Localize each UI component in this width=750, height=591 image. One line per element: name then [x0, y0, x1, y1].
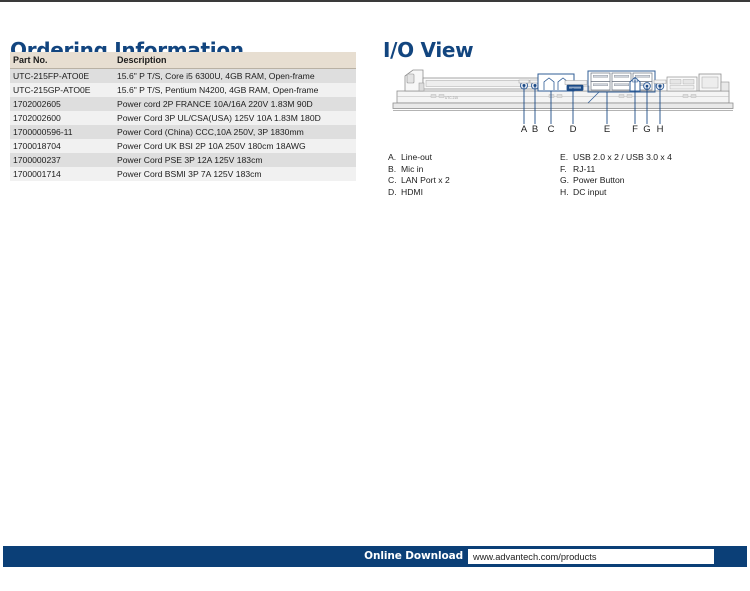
io-legend-text: DC input	[573, 187, 606, 199]
table-row: 1700001714Power Cord BSMI 3P 7A 125V 183…	[10, 167, 356, 181]
io-legend-item: A.Line-out	[388, 152, 588, 164]
cell-part-no: 1700000596-11	[10, 125, 114, 139]
io-legend-key: A.	[388, 152, 401, 164]
io-legend-key: E.	[560, 152, 573, 164]
cell-part-no: UTC-215GP-ATO0E	[10, 83, 114, 97]
cell-part-no: 1700000237	[10, 153, 114, 167]
io-legend-item: E.USB 2.0 x 2 / USB 3.0 x 4	[560, 152, 750, 164]
online-download-url[interactable]: www.advantech.com/products	[473, 550, 597, 564]
cell-description: Power cord 2P FRANCE 10A/16A 220V 1.83M …	[114, 97, 356, 111]
cell-description: Power Cord (China) CCC,10A 250V, 3P 1830…	[114, 125, 356, 139]
cell-part-no: 1702002600	[10, 111, 114, 125]
table-header-row: Part No. Description	[10, 52, 356, 69]
io-legend-key: H.	[560, 187, 573, 199]
io-legend-text: LAN Port x 2	[401, 175, 450, 187]
svg-text:UTC-215: UTC-215	[445, 96, 458, 100]
table-row: UTC-215FP-ATO0E15.6" P T/S, Core i5 6300…	[10, 69, 356, 84]
io-callout-letters: ABCDEFGH	[383, 124, 743, 138]
io-legend-text: Power Button	[573, 175, 625, 187]
column-header-description: Description	[114, 52, 356, 69]
cell-description: Power Cord BSMI 3P 7A 125V 183cm	[114, 167, 356, 181]
io-legend-key: C.	[388, 175, 401, 187]
io-legend-key: G.	[560, 175, 573, 187]
online-download-label: Online Download	[364, 550, 463, 562]
io-legend-item: C.LAN Port x 2	[388, 175, 588, 187]
table-row: 1702002600Power Cord 3P UL/CSA(USA) 125V…	[10, 111, 356, 125]
io-callout-letter-e: E	[604, 124, 610, 135]
io-callout-letter-d: D	[570, 124, 577, 135]
io-legend-right-column: E.USB 2.0 x 2 / USB 3.0 x 4F.RJ-11G.Powe…	[560, 152, 750, 198]
io-legend-key: B.	[388, 164, 401, 176]
table-row: 1700000596-11Power Cord (China) CCC,10A …	[10, 125, 356, 139]
io-legend-text: HDMI	[401, 187, 423, 199]
cell-part-no: 1700018704	[10, 139, 114, 153]
ordering-information-table: Part No. Description UTC-215FP-ATO0E15.6…	[10, 52, 356, 181]
cell-description: Power Cord 3P UL/CSA(USA) 125V 10A 1.83M…	[114, 111, 356, 125]
cell-part-no: 1700001714	[10, 167, 114, 181]
io-callout-letter-h: H	[657, 124, 664, 135]
io-legend-item: B.Mic in	[388, 164, 588, 176]
table-row: UTC-215GP-ATO0E15.6" P T/S, Pentium N420…	[10, 83, 356, 97]
io-legend-text: Line-out	[401, 152, 432, 164]
cell-description: Power Cord PSE 3P 12A 125V 183cm	[114, 153, 356, 167]
online-download-url-box[interactable]: www.advantech.com/products	[468, 549, 714, 564]
page-top-rule	[0, 0, 750, 2]
cell-description: 15.6" P T/S, Pentium N4200, 4GB RAM, Ope…	[114, 83, 356, 97]
table-row: 1700000237Power Cord PSE 3P 12A 125V 183…	[10, 153, 356, 167]
io-legend-item: G.Power Button	[560, 175, 750, 187]
cell-description: Power Cord UK BSI 2P 10A 250V 180cm 18AW…	[114, 139, 356, 153]
io-legend-key: F.	[560, 164, 573, 176]
io-legend-text: Mic in	[401, 164, 423, 176]
column-header-part-no: Part No.	[10, 52, 114, 69]
io-callout-letter-f: F	[632, 124, 638, 135]
io-callout-letter-g: G	[643, 124, 650, 135]
table-row: 1700018704Power Cord UK BSI 2P 10A 250V …	[10, 139, 356, 153]
io-legend-text: RJ-11	[573, 164, 595, 176]
io-legend-item: H.DC input	[560, 187, 750, 199]
table-row: 1702002605Power cord 2P FRANCE 10A/16A 2…	[10, 97, 356, 111]
cell-part-no: UTC-215FP-ATO0E	[10, 69, 114, 84]
io-callout-letter-a: A	[521, 124, 527, 135]
io-callout-letter-c: C	[548, 124, 555, 135]
io-legend-item: D.HDMI	[388, 187, 588, 199]
io-legend-key: D.	[388, 187, 401, 199]
cell-part-no: 1702002605	[10, 97, 114, 111]
io-legend-text: USB 2.0 x 2 / USB 3.0 x 4	[573, 152, 672, 164]
io-legend-item: F.RJ-11	[560, 164, 750, 176]
io-callout-letter-b: B	[532, 124, 538, 135]
cell-description: 15.6" P T/S, Core i5 6300U, 4GB RAM, Ope…	[114, 69, 356, 84]
io-legend-left-column: A.Line-outB.Mic inC.LAN Port x 2D.HDMI	[388, 152, 588, 198]
